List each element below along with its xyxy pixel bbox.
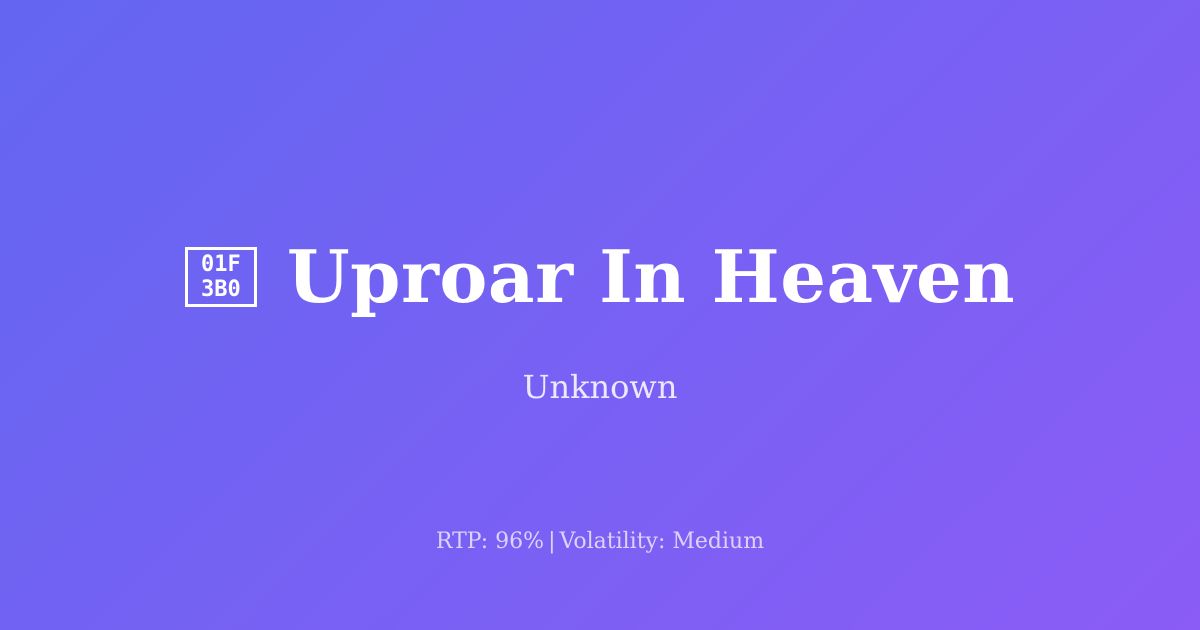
game-subtitle: Unknown (0, 367, 1200, 407)
game-banner-card: 01F 3B0 Uproar In Heaven Unknown RTP: 96… (0, 0, 1200, 630)
title-row: 01F 3B0 Uproar In Heaven (0, 232, 1200, 322)
slot-machine-icon: 01F 3B0 (185, 247, 257, 307)
rtp-value: RTP: 96% (436, 529, 544, 554)
meta-separator: | (544, 529, 559, 554)
page-title: Uproar In Heaven (287, 241, 1015, 313)
slot-machine-icon-codepoint-bottom: 3B0 (201, 277, 241, 302)
volatility-value: Volatility: Medium (560, 529, 765, 554)
game-meta-line: RTP: 96%|Volatility: Medium (0, 528, 1200, 556)
slot-machine-icon-codepoint-top: 01F (201, 252, 241, 277)
